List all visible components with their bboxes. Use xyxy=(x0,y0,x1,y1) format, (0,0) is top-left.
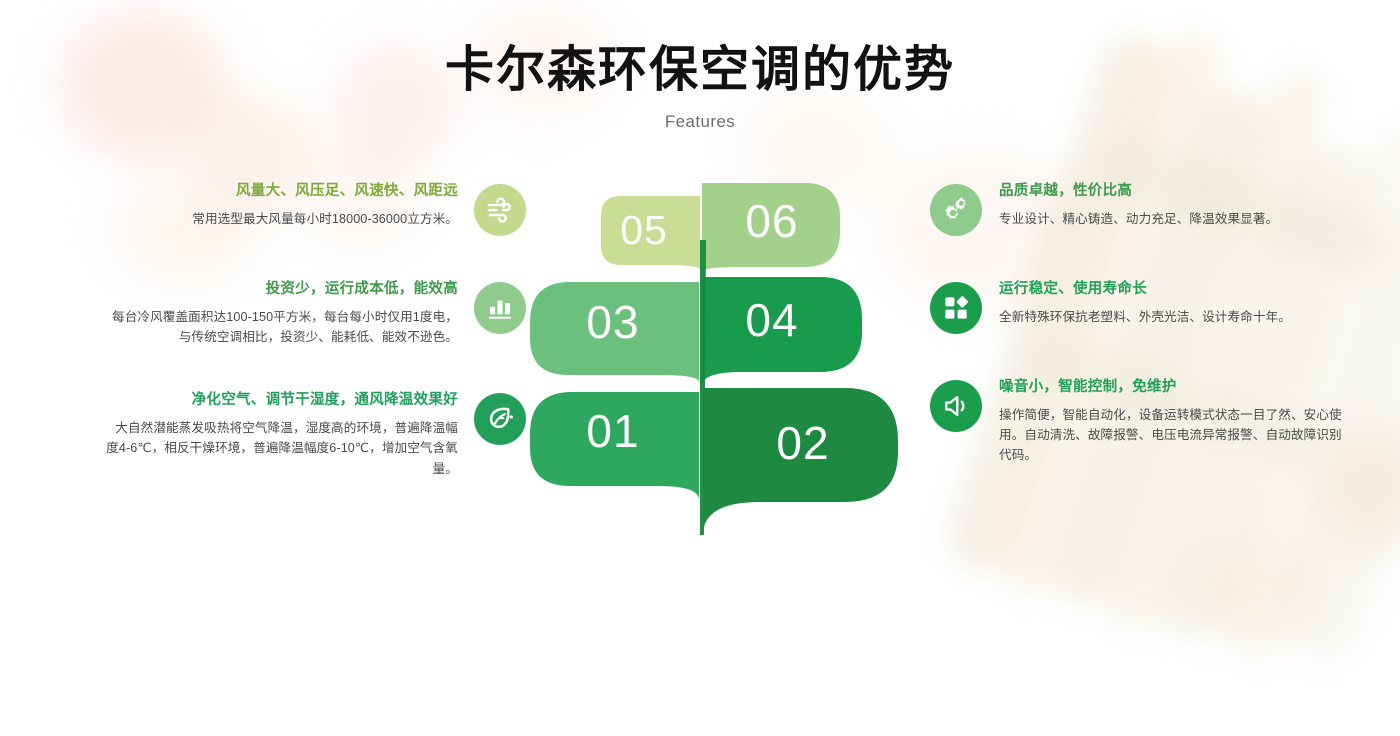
features-right-column: 品质卓越，性价比高 专业设计、精心铸造、动力充足、降温效果显著。 运行稳定、使用… xyxy=(930,182,1350,466)
bar-chart-icon xyxy=(474,282,526,334)
feature-item-04: 运行稳定、使用寿命长 全新特殊环保抗老塑料、外壳光洁、设计寿命十年。 xyxy=(930,280,1350,334)
feature-title-02: 噪音小，智能控制，免维护 xyxy=(999,378,1350,398)
feature-title-01: 净化空气、调节干湿度，通风降温效果好 xyxy=(106,391,458,411)
leaf-shape-02 xyxy=(703,388,898,535)
leaf-number-06: 06 xyxy=(745,195,798,247)
feature-text-04: 运行稳定、使用寿命长 全新特殊环保抗老塑料、外壳光洁、设计寿命十年。 xyxy=(982,280,1291,327)
header: 卡尔森环保空调的优势 Features xyxy=(0,0,1400,132)
leaf-shape-05 xyxy=(601,196,700,270)
feature-title-04: 运行稳定、使用寿命长 xyxy=(999,280,1291,300)
features-left-column: 风量大、风压足、风速快、风距远 常用选型最大风量每小时18000-36000立方… xyxy=(76,182,526,479)
page-subtitle: Features xyxy=(0,98,1400,132)
speaker-icon xyxy=(930,380,982,432)
feature-title-03: 投资少，运行成本低，能效高 xyxy=(106,280,458,300)
leaf-shape-06 xyxy=(702,183,840,272)
feature-item-01: 净化空气、调节干湿度，通风降温效果好 大自然潜能蒸发吸热将空气降温，湿度高的环境… xyxy=(76,391,526,479)
leaf-number-05: 05 xyxy=(620,207,668,253)
leaf-icon xyxy=(474,393,526,445)
feature-text-06: 品质卓越，性价比高 专业设计、精心铸造、动力充足、降温效果显著。 xyxy=(982,182,1278,229)
feature-text-01: 净化空气、调节干湿度，通风降温效果好 大自然潜能蒸发吸热将空气降温，湿度高的环境… xyxy=(106,391,474,479)
leaf-number-01: 01 xyxy=(586,405,639,457)
leaf-shape-03 xyxy=(530,282,699,382)
feature-desc-05: 常用选型最大风量每小时18000-36000立方米。 xyxy=(192,209,458,229)
feature-text-03: 投资少，运行成本低，能效高 每台冷风覆盖面积达100-150平方米，每台每小时仅… xyxy=(106,280,474,347)
feature-item-03: 投资少，运行成本低，能效高 每台冷风覆盖面积达100-150平方米，每台每小时仅… xyxy=(76,280,526,347)
feature-text-05: 风量大、风压足、风速快、风距远 常用选型最大风量每小时18000-36000立方… xyxy=(192,182,474,229)
feature-title-05: 风量大、风压足、风速快、风距远 xyxy=(192,182,458,202)
feature-desc-02: 操作简便，智能自动化，设备运转模式状态一目了然、安心使用。自动清洗、故障报警、电… xyxy=(999,405,1350,466)
leaf-number-03: 03 xyxy=(586,296,639,348)
leaf-number-04: 04 xyxy=(745,294,798,346)
gears-icon xyxy=(930,184,982,236)
page-title: 卡尔森环保空调的优势 xyxy=(0,0,1400,98)
feature-desc-03: 每台冷风覆盖面积达100-150平方米，每台每小时仅用1度电，与传统空调相比，投… xyxy=(106,307,458,348)
feature-desc-04: 全新特殊环保抗老塑料、外壳光洁、设计寿命十年。 xyxy=(999,307,1291,327)
leaf-stem xyxy=(700,240,706,535)
feature-text-02: 噪音小，智能控制，免维护 操作简便，智能自动化，设备运转模式状态一目了然、安心使… xyxy=(982,378,1350,466)
blocks-icon xyxy=(930,282,982,334)
bg-blob xyxy=(1180,540,1330,630)
feature-desc-06: 专业设计、精心铸造、动力充足、降温效果显著。 xyxy=(999,209,1278,229)
leaf-shape-01 xyxy=(530,392,699,500)
feature-item-02: 噪音小，智能控制，免维护 操作简便，智能自动化，设备运转模式状态一目了然、安心使… xyxy=(930,378,1350,466)
feature-desc-01: 大自然潜能蒸发吸热将空气降温，湿度高的环境，普遍降温幅度4-6℃，相反干燥环境，… xyxy=(106,418,458,479)
feature-title-06: 品质卓越，性价比高 xyxy=(999,182,1278,202)
wind-icon xyxy=(474,184,526,236)
feature-item-05: 风量大、风压足、风速快、风距远 常用选型最大风量每小时18000-36000立方… xyxy=(76,182,526,236)
leaf-shape-04 xyxy=(702,277,862,386)
feature-item-06: 品质卓越，性价比高 专业设计、精心铸造、动力充足、降温效果显著。 xyxy=(930,182,1350,236)
leaf-number-02: 02 xyxy=(776,417,829,469)
